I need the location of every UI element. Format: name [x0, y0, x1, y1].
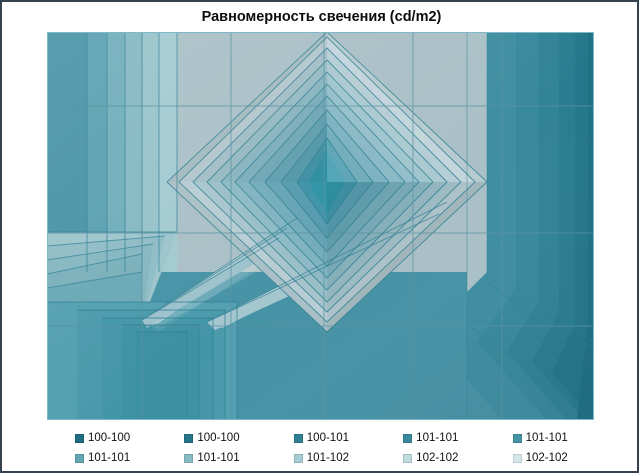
legend-swatch-icon: [403, 454, 412, 463]
legend-swatch-icon: [294, 454, 303, 463]
surface-contour-plot: [47, 32, 594, 420]
legend-item-5[interactable]: 101-101: [47, 452, 156, 464]
legend-swatch-icon: [75, 434, 84, 443]
legend-swatch-icon: [403, 434, 412, 443]
legend-swatch-icon: [184, 454, 193, 463]
legend-swatch-icon: [513, 434, 522, 443]
legend-swatch-icon: [184, 434, 193, 443]
legend-item-7[interactable]: 101-102: [266, 452, 375, 464]
legend-label: 101-101: [526, 432, 568, 444]
plot-area: [47, 32, 594, 420]
legend-item-1[interactable]: 100-100: [156, 432, 265, 444]
plot-shading-overlay: [47, 32, 594, 420]
legend-label: 101-101: [416, 432, 458, 444]
legend-item-6[interactable]: 101-101: [156, 452, 265, 464]
legend-item-4[interactable]: 101-101: [485, 432, 594, 444]
legend-swatch-icon: [75, 454, 84, 463]
legend-label: 101-102: [307, 452, 349, 464]
legend-swatch-icon: [513, 454, 522, 463]
legend-label: 100-100: [197, 432, 239, 444]
legend-label: 101-101: [88, 452, 130, 464]
page-title: Равномерность свечения (cd/m2): [2, 7, 639, 27]
legend-item-3[interactable]: 101-101: [375, 432, 484, 444]
legend-row-2: 101-101 101-101 101-102 102-102 102-102: [47, 448, 594, 468]
chart-frame: Равномерность свечения (cd/m2): [0, 0, 639, 473]
legend-row-1: 100-100 100-100 100-101 101-101 101-101: [47, 428, 594, 448]
legend-label: 100-101: [307, 432, 349, 444]
legend-item-9[interactable]: 102-102: [485, 452, 594, 464]
legend-item-0[interactable]: 100-100: [47, 432, 156, 444]
legend-label: 102-102: [526, 452, 568, 464]
contour-bands: [47, 32, 594, 420]
legend-swatch-icon: [294, 434, 303, 443]
legend-label: 102-102: [416, 452, 458, 464]
legend-label: 101-101: [197, 452, 239, 464]
legend-label: 100-100: [88, 432, 130, 444]
chart-legend: 100-100 100-100 100-101 101-101 101-101: [47, 428, 594, 470]
legend-item-2[interactable]: 100-101: [266, 432, 375, 444]
legend-item-8[interactable]: 102-102: [375, 452, 484, 464]
